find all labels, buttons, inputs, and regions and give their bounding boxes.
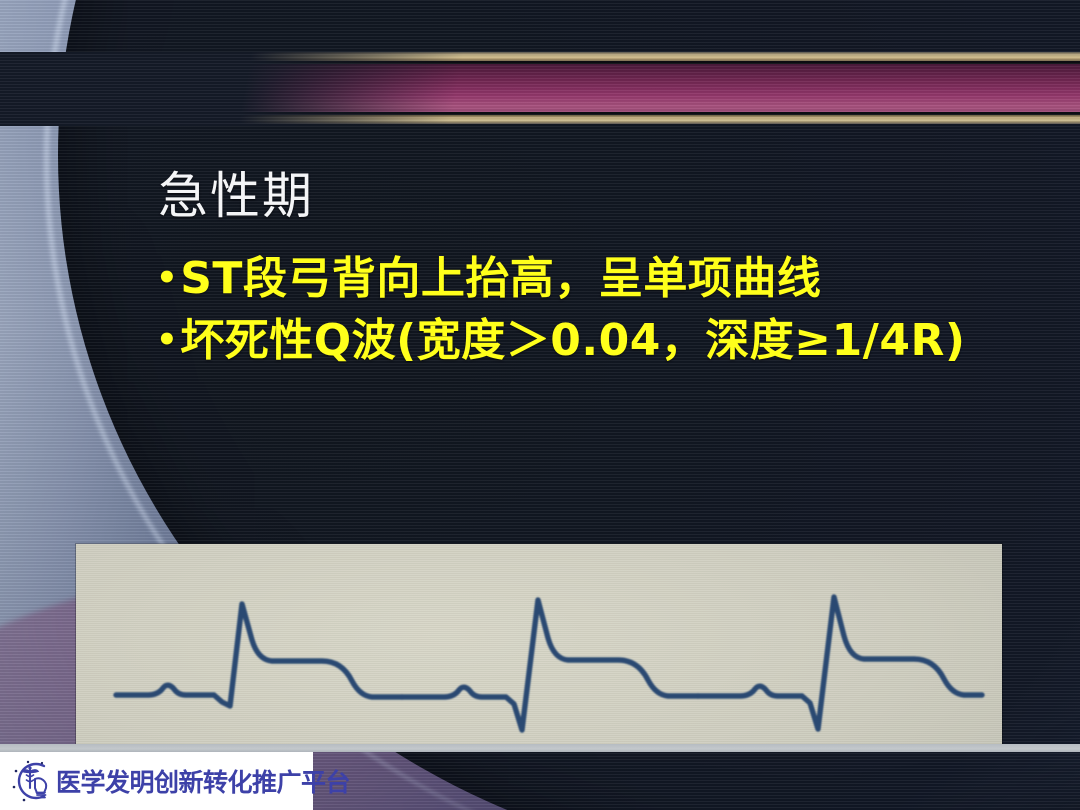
slide-content: 急性期 • ST段弓背向上抬高，呈单项曲线 • 坏死性Q波(宽度＞0.04，深度… (0, 0, 1080, 810)
bullet-list: • ST段弓背向上抬高，呈单项曲线 • 坏死性Q波(宽度＞0.04，深度≥1/4… (156, 248, 1056, 373)
bullet-item-1: • ST段弓背向上抬高，呈单项曲线 (156, 248, 1056, 310)
platform-logo-label: 医学发明创新转化推广平台 (56, 763, 350, 799)
bottom-divider (0, 744, 1080, 752)
ecg-image (76, 544, 1002, 748)
bullet-item-1-label: ST段弓背向上抬高，呈单项曲线 (180, 248, 821, 310)
platform-logo: 医学发明创新转化推广平台 (0, 752, 313, 810)
presentation-slide: 急性期 • ST段弓背向上抬高，呈单项曲线 • 坏死性Q波(宽度＞0.04，深度… (0, 0, 1080, 810)
lightbulb-caduceus-icon (6, 757, 54, 805)
bullet-item-2-label: 坏死性Q波(宽度＞0.04，深度≥1/4R) (180, 310, 965, 372)
slide-title: 急性期 (158, 168, 314, 224)
bullet-item-2: • 坏死性Q波(宽度＞0.04，深度≥1/4R) (156, 310, 1056, 372)
bullet-marker-icon: • (156, 261, 178, 295)
bullet-marker-icon: • (156, 323, 178, 357)
ecg-trace-icon (76, 544, 1002, 748)
